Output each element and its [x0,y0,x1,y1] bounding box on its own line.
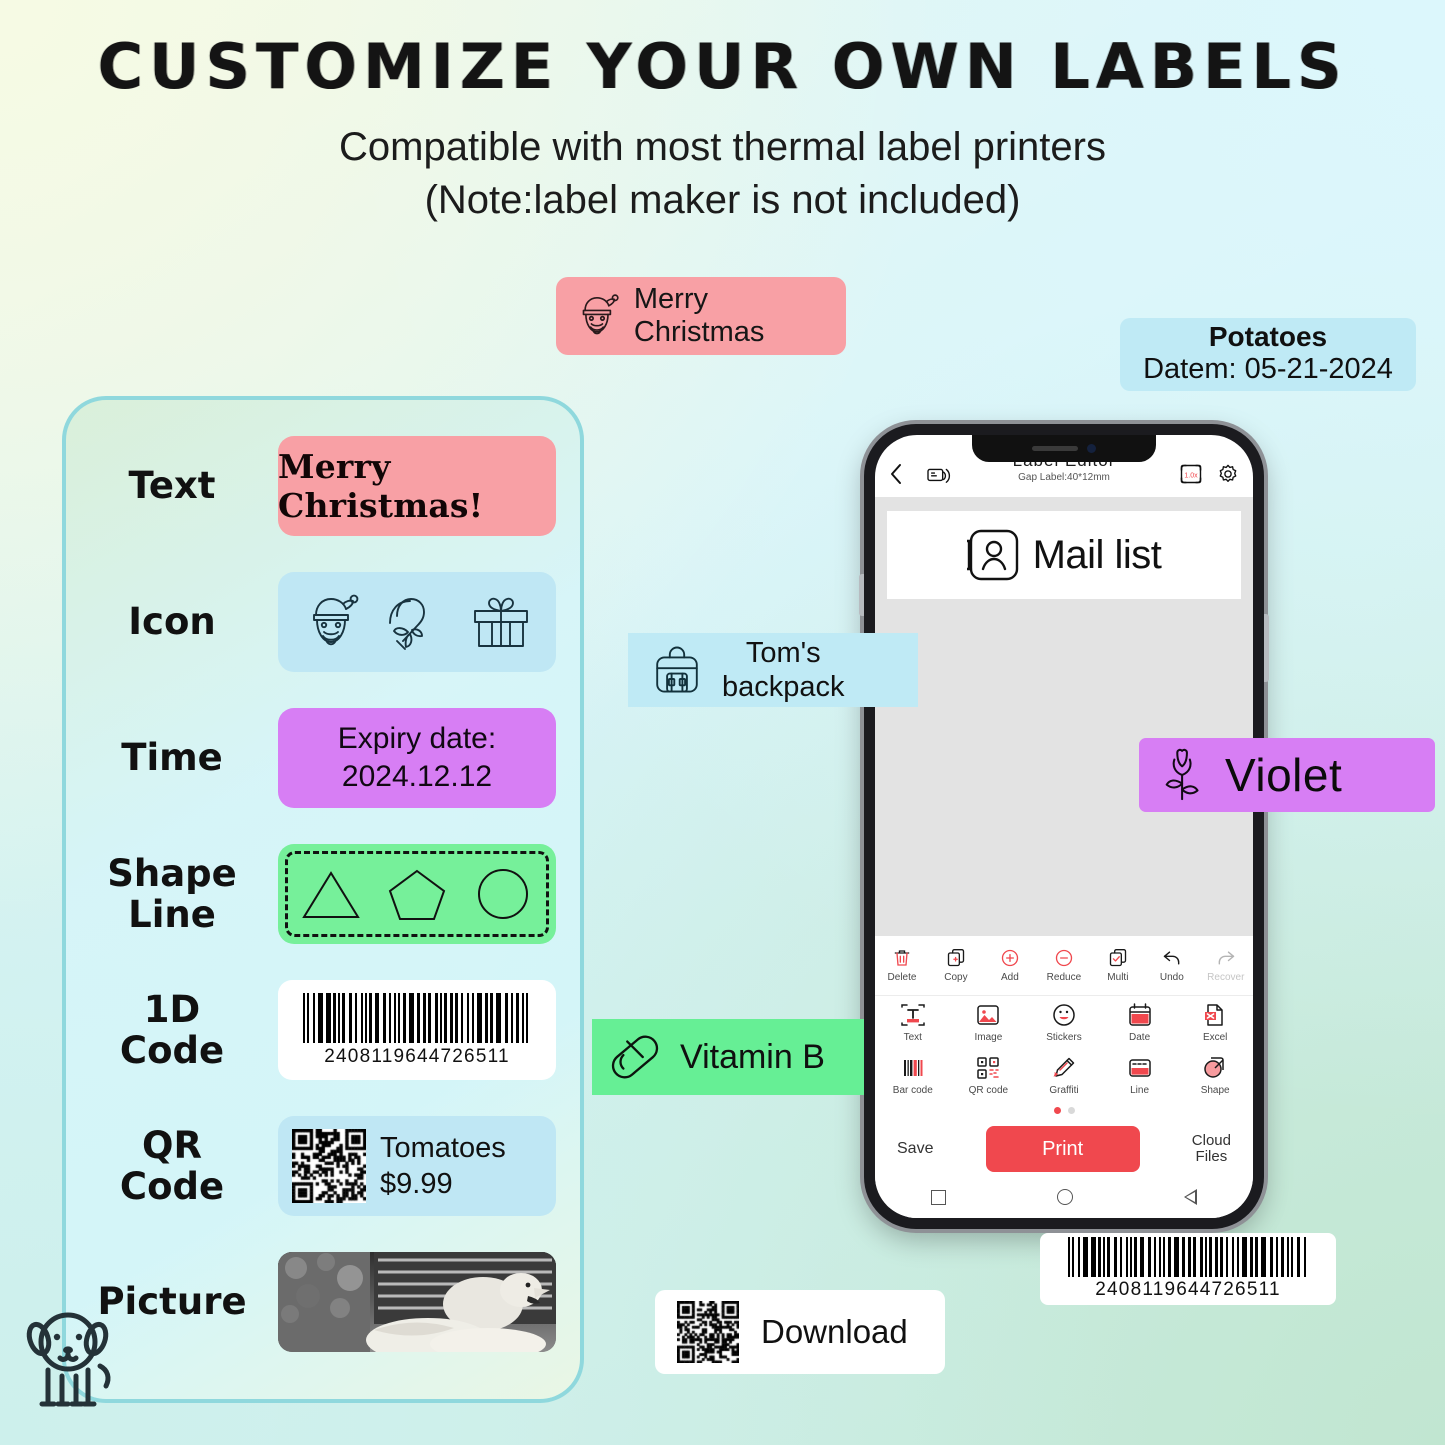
feature-row-label-line1: Shape [66,853,278,894]
tool-barcode[interactable]: Bar code [875,1049,951,1102]
tool-delete[interactable]: Delete [875,942,929,989]
save-button[interactable]: Save [897,1140,933,1158]
android-navbar [875,1176,1253,1218]
calendar-icon [1127,1002,1153,1028]
dog-icon [18,1306,128,1426]
tool-multi[interactable]: Multi [1091,942,1145,989]
potatoes-title: Potatoes [1209,322,1327,353]
tool-label: Shape [1201,1085,1230,1096]
sticker-icon [1051,1002,1077,1028]
tool-stickers[interactable]: Stickers [1026,996,1102,1049]
plus-circle-icon [1000,948,1020,968]
backpack-line-1: Tom's [722,636,845,670]
tool-line[interactable]: Line [1102,1049,1178,1102]
feature-row-barcode: 1D Code 2408119644726511 [66,980,580,1080]
floating-label-merry-christmas: Merry Christmas [556,277,846,355]
feature-row-sample: Merry Christmas! [278,436,556,536]
page-subtitle: Compatible with most thermal label print… [0,121,1445,227]
feature-row-text: Text Merry Christmas! [66,436,580,536]
multi-select-icon [1108,948,1128,968]
backpack-icon [650,643,704,697]
barcode-bars [1068,1237,1308,1277]
circle-icon [470,863,536,925]
tool-undo[interactable]: Undo [1145,942,1199,989]
label-sample-shapes [278,844,556,944]
tool-graffiti[interactable]: Graffiti [1026,1049,1102,1102]
feature-row-icon: Icon [66,572,580,672]
recents-square-icon[interactable] [931,1190,946,1205]
feature-row-sample: Tomatoes $9.99 [278,1116,556,1216]
label-sample-text-value: Merry Christmas! [278,447,556,525]
label-preview[interactable]: Mail list [887,511,1241,599]
tool-label: Add [1001,972,1019,983]
topbar-left-icons [889,462,952,486]
tool-label: Stickers [1046,1032,1082,1043]
label-preview-text: Mail list [1033,533,1162,578]
expiry-label: Expiry date: [338,720,496,758]
qr-code-icon [292,1129,366,1203]
barcode-number: 2408119644726511 [324,1046,509,1068]
qr-product-price: $9.99 [380,1166,506,1202]
feature-row-label-line2: Code [66,1030,278,1071]
subtitle-line-2: (Note:label maker is not included) [0,174,1445,227]
barcode-icon [900,1055,926,1081]
action-bar: Save Print Cloud Files [875,1120,1253,1176]
toolbar-row-2: Text Image [875,996,1253,1049]
qr-code-icon [677,1301,739,1363]
label-sample-text: Merry Christmas! [278,436,556,536]
image-icon [975,1002,1001,1028]
excel-icon [1202,1002,1228,1028]
expiry-date: 2024.12.12 [342,758,492,796]
floating-label-violet: Violet [1139,738,1435,812]
phone-screen: Label Editor Gap Label:40*12mm 1.0x [875,435,1253,1218]
page-header: CUSTOMIZE YOUR OWN LABELS Compatible wit… [0,34,1445,227]
feature-row-label: Shape Line [66,853,278,936]
tool-label: QR code [969,1085,1008,1096]
home-circle-icon[interactable] [1057,1189,1073,1205]
pentagon-icon [384,863,450,925]
floating-label-potatoes: Potatoes Datem: 05-21-2024 [1120,318,1416,391]
tool-image[interactable]: Image [951,996,1027,1049]
feature-card: Text Merry Christmas! Icon [62,396,584,1403]
label-sample-barcode: 2408119644726511 [278,980,556,1080]
label-sample-picture [278,1252,556,1352]
feature-row-sample [278,844,556,944]
phone-mockup: Label Editor Gap Label:40*12mm 1.0x [864,424,1264,1229]
phone-notch [972,435,1156,462]
floating-label-vitamin: Vitamin B [592,1019,864,1095]
label-sample-qr: Tomatoes $9.99 [278,1116,556,1216]
santa-icon [302,592,360,652]
candy-cane-icon [384,592,446,652]
floating-label-download: Download [655,1290,945,1374]
tool-label: Delete [888,972,917,983]
tool-label: Line [1130,1085,1149,1096]
santa-icon [574,292,620,340]
feature-row-label-line2: Line [66,894,278,935]
dog-photo-icon [278,1252,556,1352]
label-canvas[interactable]: Mail list [875,497,1253,936]
triangle-icon [298,863,364,925]
tulip-icon [1161,747,1209,803]
camera-icon [1087,444,1096,453]
tool-add[interactable]: Add [983,942,1037,989]
feature-row-label: QR Code [66,1125,278,1208]
qr-product-name: Tomatoes [380,1130,506,1166]
tool-qrcode[interactable]: QR code [951,1049,1027,1102]
chevron-left-icon[interactable] [889,462,904,486]
svg-text:1.0x: 1.0x [1184,473,1198,480]
tool-label: Image [974,1032,1002,1043]
topbar-right-icons: 1.0x [1179,463,1239,485]
feature-row-label: Icon [66,601,278,642]
tool-excel[interactable]: Excel [1177,996,1253,1049]
tool-label: Copy [944,972,967,983]
tool-label: Reduce [1047,972,1081,983]
feature-row-label-line1: 1D [66,989,278,1030]
tool-recover[interactable]: Recover [1199,942,1253,989]
toolbar-row-3: Bar code QR code [875,1049,1253,1102]
potatoes-date: Datem: 05-21-2024 [1143,353,1393,386]
feature-row-shape: Shape Line [66,844,580,944]
capsule-icon [606,1028,664,1086]
text-icon [900,1002,926,1028]
copy-icon [946,948,966,968]
label-sample-time: Expiry date: 2024.12.12 [278,708,556,808]
printer-connect-icon[interactable] [926,463,952,485]
feature-row-picture: Picture [66,1252,580,1352]
tool-reduce[interactable]: Reduce [1037,942,1091,989]
download-text: Download [761,1313,908,1351]
trash-icon [892,948,912,968]
feature-row-time: Time Expiry date: 2024.12.12 [66,708,580,808]
contact-card-icon [967,525,1023,585]
feature-row-sample: 2408119644726511 [278,980,556,1080]
density-icon[interactable]: 1.0x [1179,463,1203,485]
qrcode-icon [975,1055,1001,1081]
cloud-files-line-2: Files [1196,1148,1228,1165]
tool-label: Multi [1107,972,1128,983]
feature-row-sample: Expiry date: 2024.12.12 [278,708,556,808]
page-title: CUSTOMIZE YOUR OWN LABELS [0,34,1445,99]
feature-row-label-line1: QR [66,1125,278,1166]
tool-text[interactable]: Text [875,996,951,1049]
speaker-icon [1032,446,1078,451]
tool-shape[interactable]: Shape [1177,1049,1253,1102]
feature-row-qr: QR Code Tomatoes $9.99 [66,1116,580,1216]
qr-text: Tomatoes $9.99 [380,1130,506,1203]
line-icon [1127,1055,1153,1081]
gear-icon[interactable] [1217,463,1239,485]
floating-label-backpack: Tom's backpack [628,633,918,707]
feature-row-sample [278,572,556,672]
tool-label: Recover [1207,972,1244,983]
toolbar-row-1: Delete Copy Add [875,942,1253,996]
barcode-number: 2408119644726511 [1095,1279,1280,1301]
tool-label: Excel [1203,1032,1227,1043]
undo-icon [1162,948,1182,968]
violet-text: Violet [1225,748,1342,802]
toolbar-pager[interactable] [875,1102,1253,1120]
shape-icon [1202,1055,1228,1081]
tool-label: Graffiti [1049,1085,1078,1096]
tool-label: Undo [1160,972,1184,983]
cloud-files-line-1: Cloud [1192,1132,1231,1149]
feature-row-label: Text [66,465,278,506]
gift-icon [470,593,532,651]
subtitle-line-1: Compatible with most thermal label print… [0,121,1445,174]
backpack-line-2: backpack [722,670,845,704]
feature-row-label: 1D Code [66,989,278,1072]
back-triangle-icon[interactable] [1184,1189,1197,1205]
pager-dot-active[interactable] [1054,1107,1061,1114]
pager-dot[interactable] [1068,1107,1075,1114]
tool-label: Date [1129,1032,1150,1043]
feature-row-label-line2: Code [66,1166,278,1207]
tool-date[interactable]: Date [1102,996,1178,1049]
print-button[interactable]: Print [986,1126,1140,1172]
vitamin-text: Vitamin B [680,1038,825,1077]
tool-label: Text [904,1032,922,1043]
tool-copy[interactable]: Copy [929,942,983,989]
tool-label: Bar code [893,1085,933,1096]
barcode-bars [303,993,532,1043]
feature-row-label: Time [66,737,278,778]
redo-icon [1216,948,1236,968]
label-sample-icons [278,572,556,672]
floating-label-barcode: 2408119644726511 [1040,1233,1336,1305]
merry-christmas-text: Merry Christmas [634,283,846,349]
backpack-text: Tom's backpack [722,636,845,704]
editor-toolbar: Delete Copy Add [875,936,1253,1120]
pen-icon [1051,1055,1077,1081]
cloud-files-button[interactable]: Cloud Files [1192,1133,1231,1166]
minus-circle-icon [1054,948,1074,968]
feature-row-sample [278,1252,556,1352]
